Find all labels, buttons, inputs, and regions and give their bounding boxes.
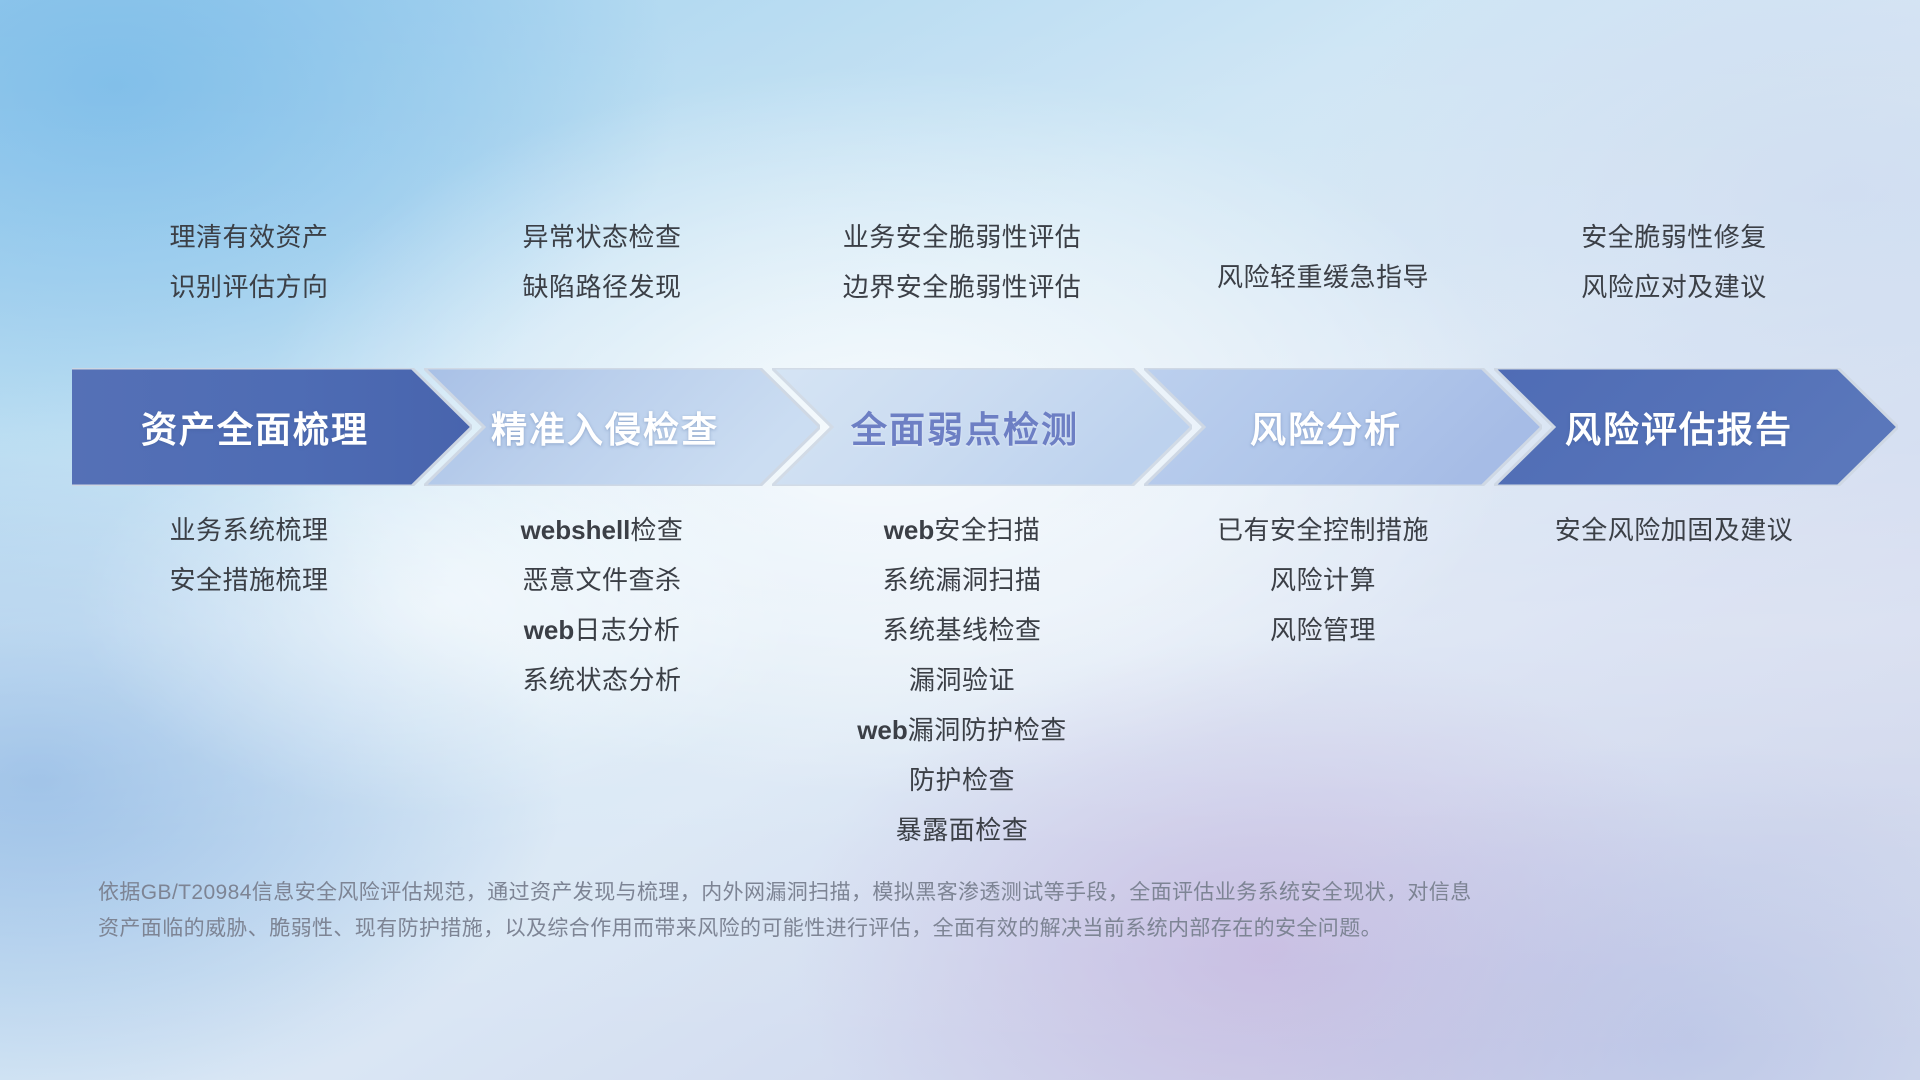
stage-activities-row: 业务系统梳理 安全措施梳理 webshell检查 恶意文件查杀 web日志分析 … <box>70 505 1850 855</box>
stage-activities-risk-analysis: 已有安全控制措施 风险计算 风险管理 <box>1148 505 1498 855</box>
list-item: 识别评估方向 <box>169 262 328 312</box>
list-item: 异常状态检查 <box>522 212 681 262</box>
list-item: 安全风险加固及建议 <box>1555 505 1794 555</box>
list-item: 已有安全控制措施 <box>1217 505 1429 555</box>
chevron-label: 全面弱点检测 <box>851 401 1113 453</box>
chevron-stage-asset-inventory[interactable]: 资产全面梳理 <box>72 368 472 486</box>
stage-outputs-weakness-detection: 业务安全脆弱性评估 边界安全脆弱性评估 <box>776 212 1148 342</box>
list-item: 系统状态分析 <box>522 655 681 705</box>
stage-activities-risk-report: 安全风险加固及建议 <box>1498 505 1850 855</box>
chevron-label: 风险分析 <box>1250 401 1436 453</box>
footer-line-2: 资产面临的威胁、脆弱性、现有防护措施，以及综合作用而带来风险的可能性进行评估，全… <box>98 911 1738 947</box>
stage-activities-intrusion-check: webshell检查 恶意文件查杀 web日志分析 系统状态分析 <box>428 505 776 855</box>
list-item: 理清有效资产 <box>169 212 328 262</box>
stage-activities-weakness-detection: web安全扫描 系统漏洞扫描 系统基线检查 漏洞验证 web漏洞防护检查 防护检… <box>776 505 1148 855</box>
stage-outputs-risk-analysis: 风险轻重缓急指导 <box>1148 212 1498 342</box>
footer-description: 依据GB/T20984信息安全风险评估规范，通过资产发现与梳理，内外网漏洞扫描，… <box>98 875 1738 947</box>
list-item: 风险轻重缓急指导 <box>1217 252 1429 302</box>
list-item: 业务系统梳理 <box>169 505 328 555</box>
chevron-stage-intrusion-check[interactable]: 精准入侵检查 <box>424 368 820 486</box>
list-item: webshell检查 <box>521 505 684 555</box>
list-item: 安全脆弱性修复 <box>1581 212 1767 262</box>
list-item-cjk: 日志分析 <box>574 615 680 645</box>
list-item-cjk: 漏洞防护检查 <box>908 715 1067 745</box>
list-item-latin: webshell <box>521 515 631 545</box>
stage-outputs-asset-inventory: 理清有效资产 识别评估方向 <box>70 212 428 342</box>
process-chevron-bar: 资产全面梳理 <box>72 368 1848 486</box>
stage-activities-asset-inventory: 业务系统梳理 安全措施梳理 <box>70 505 428 855</box>
stage-outputs-risk-report: 安全脆弱性修复 风险应对及建议 <box>1498 212 1850 342</box>
list-item: 风险计算 <box>1270 555 1376 605</box>
list-item: web漏洞防护检查 <box>857 705 1067 755</box>
list-item-cjk: 安全扫描 <box>934 515 1040 545</box>
list-item: 边界安全脆弱性评估 <box>843 262 1082 312</box>
slide-canvas: 理清有效资产 识别评估方向 异常状态检查 缺陷路径发现 业务安全脆弱性评估 边界… <box>0 0 1920 1080</box>
stage-outputs-intrusion-check: 异常状态检查 缺陷路径发现 <box>428 212 776 342</box>
list-item-latin: web <box>857 715 908 745</box>
list-item-cjk: 系统基线检查 <box>882 615 1041 645</box>
list-item: 暴露面检查 <box>896 805 1029 855</box>
list-item: web日志分析 <box>524 605 681 655</box>
list-item: 风险管理 <box>1270 605 1376 655</box>
footer-line-1: 依据GB/T20984信息安全风险评估规范，通过资产发现与梳理，内外网漏洞扫描，… <box>98 875 1738 911</box>
chevron-stage-weakness-detection[interactable]: 全面弱点检测 <box>772 368 1192 486</box>
stage-outputs-row: 理清有效资产 识别评估方向 异常状态检查 缺陷路径发现 业务安全脆弱性评估 边界… <box>70 212 1850 342</box>
list-item: 系统基线检查 <box>882 605 1041 655</box>
list-item: 系统漏洞扫描 <box>882 555 1041 605</box>
list-item-latin: web <box>524 615 575 645</box>
list-item-cjk: 防护检查 <box>909 765 1015 795</box>
list-item-cjk: 恶意文件查杀 <box>522 565 681 595</box>
list-item: 缺陷路径发现 <box>522 262 681 312</box>
list-item-cjk: 系统漏洞扫描 <box>882 565 1041 595</box>
list-item: 风险应对及建议 <box>1581 262 1767 312</box>
list-item-cjk: 漏洞验证 <box>909 665 1015 695</box>
diagram-content: 理清有效资产 识别评估方向 异常状态检查 缺陷路径发现 业务安全脆弱性评估 边界… <box>0 0 1920 1080</box>
chevron-label: 精准入侵检查 <box>491 401 753 453</box>
list-item: 恶意文件查杀 <box>522 555 681 605</box>
chevron-label: 资产全面梳理 <box>141 401 403 453</box>
chevron-stage-risk-report[interactable]: 风险评估报告 <box>1494 368 1898 486</box>
list-item-latin: web <box>884 515 935 545</box>
chevron-label: 风险评估报告 <box>1565 401 1827 453</box>
list-item-cjk: 系统状态分析 <box>522 665 681 695</box>
chevron-stage-risk-analysis[interactable]: 风险分析 <box>1144 368 1542 486</box>
list-item: 防护检查 <box>909 755 1015 805</box>
list-item: 业务安全脆弱性评估 <box>843 212 1082 262</box>
list-item: 漏洞验证 <box>909 655 1015 705</box>
list-item-cjk: 暴露面检查 <box>896 815 1029 845</box>
list-item: web安全扫描 <box>884 505 1041 555</box>
list-item: 安全措施梳理 <box>169 555 328 605</box>
list-item-cjk: 检查 <box>630 515 683 545</box>
